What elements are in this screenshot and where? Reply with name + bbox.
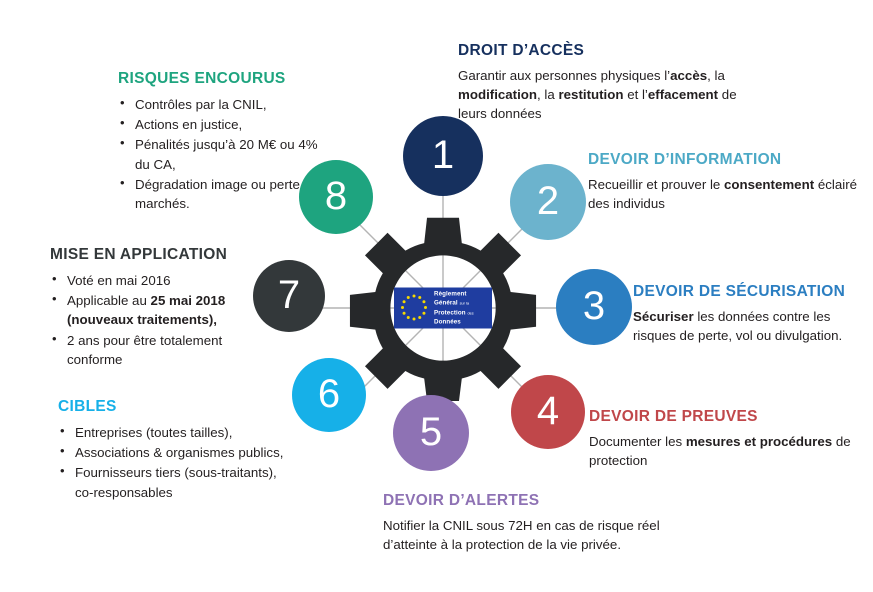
block-mise-en-application-list: Voté en mai 2016 Applicable au 25 mai 20…: [50, 271, 265, 369]
text-plain: , la: [537, 87, 558, 102]
text-plain: les données contre les: [694, 309, 831, 324]
block-risques-encourus-heading: RISQUES ENCOURUS: [118, 70, 333, 88]
text-plain: de: [718, 87, 737, 102]
step-number: 5: [420, 412, 442, 452]
logo-line: Général sur la: [434, 299, 474, 308]
text-bold: consentement: [724, 177, 814, 192]
text-plain: Notifier la CNIL sous 72H en cas de risq…: [383, 518, 660, 533]
text-bold: mesures et procédures: [686, 434, 832, 449]
step-circle-4[interactable]: 4: [511, 375, 585, 449]
text-bold: restitution: [558, 87, 623, 102]
infographic-canvas: RISQUES ENCOURUS Contrôles par la CNIL, …: [0, 0, 873, 592]
text-bold: modification: [458, 87, 537, 102]
eu-stars-icon: [394, 288, 434, 329]
list-item: 2 ans pour être totalement conforme: [67, 331, 265, 370]
step-number: 3: [583, 286, 605, 326]
block-mise-en-application: MISE EN APPLICATION Voté en mai 2016 App…: [50, 246, 265, 370]
rgpd-eu-logo: Règlement Général sur la Protection des …: [394, 288, 492, 329]
text-bold: accès: [670, 68, 707, 83]
text-plain: d’atteinte à la protection de la vie pri…: [383, 537, 621, 552]
logo-line-small: des: [467, 310, 473, 315]
logo-line-small: sur la: [460, 301, 470, 306]
list-item-text-plain: Applicable au: [67, 293, 151, 308]
step-number: 4: [537, 391, 559, 431]
step-circle-6[interactable]: 6: [292, 358, 366, 432]
step-circle-7[interactable]: 7: [253, 260, 325, 332]
logo-line: Protection des: [434, 308, 474, 317]
step-number: 6: [318, 374, 340, 414]
rgpd-logo-text: Règlement Général sur la Protection des …: [434, 289, 474, 327]
logo-line-word: Général: [434, 300, 458, 307]
text-bold: effacement: [648, 87, 718, 102]
block-droit-acces-heading: DROIT D’ACCÈS: [458, 42, 768, 60]
text-plain: Garantir aux personnes physiques l’: [458, 68, 670, 83]
block-devoir-securisation-body: Sécuriser les données contre les risques…: [633, 308, 863, 346]
rgpd-wheel: Règlement Général sur la Protection des …: [243, 108, 643, 508]
step-number: 1: [432, 135, 454, 175]
step-circle-5[interactable]: 5: [393, 395, 469, 471]
step-number: 8: [325, 176, 347, 216]
list-item: Voté en mai 2016: [67, 271, 265, 290]
logo-line-word: Protection: [434, 309, 466, 316]
block-devoir-securisation-heading: DEVOIR DE SÉCURISATION: [633, 283, 863, 301]
logo-line: Données: [434, 317, 474, 326]
list-item: Applicable au 25 mai 2018 (nouveaux trai…: [67, 291, 265, 330]
block-devoir-securisation: DEVOIR DE SÉCURISATION Sécuriser les don…: [633, 283, 863, 346]
block-devoir-alertes-body: Notifier la CNIL sous 72H en cas de risq…: [383, 517, 703, 555]
logo-line: Règlement: [434, 289, 474, 298]
step-number: 2: [537, 181, 559, 221]
step-circle-3[interactable]: 3: [556, 269, 632, 345]
text-plain: risques de perte, vol ou divulgation.: [633, 328, 842, 343]
step-circle-1[interactable]: 1: [403, 116, 483, 196]
text-plain: , la: [707, 68, 725, 83]
step-circle-2[interactable]: 2: [510, 164, 586, 240]
step-circle-8[interactable]: 8: [299, 160, 373, 234]
text-plain: et l’: [624, 87, 648, 102]
block-mise-en-application-heading: MISE EN APPLICATION: [50, 246, 265, 264]
step-number: 7: [278, 275, 300, 315]
